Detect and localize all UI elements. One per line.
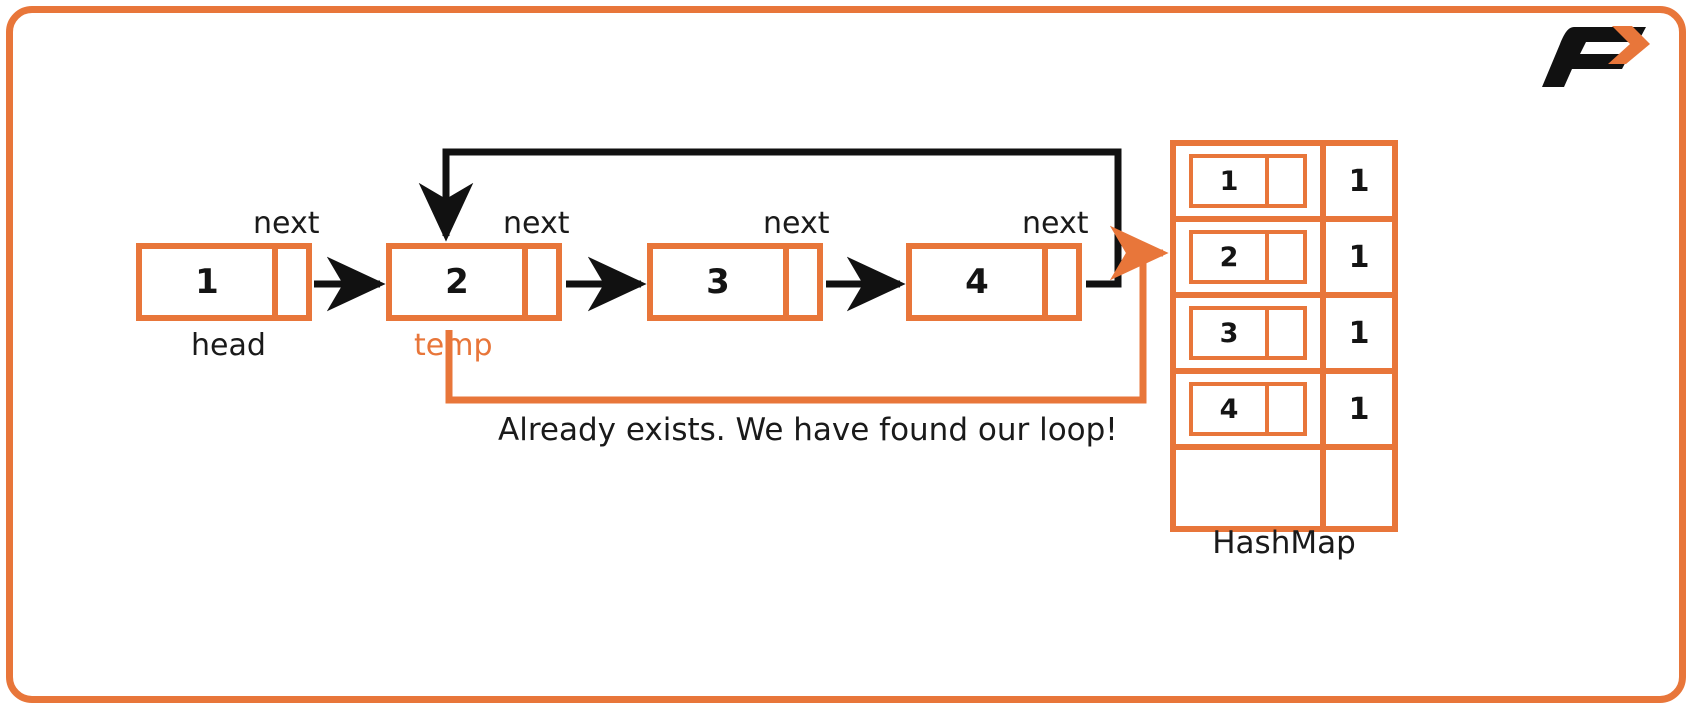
next-label-node-4: next (1022, 206, 1088, 241)
diagram-canvas: next 1 head next 2 temp next 3 next 4 (0, 0, 1692, 709)
list-node-3-value: 3 (653, 249, 789, 315)
hashmap-key-node-next (1269, 386, 1303, 432)
brand-logo (1534, 22, 1654, 92)
hashmap-value-cell: 1 (1326, 222, 1392, 292)
next-label-node-1: next (253, 206, 319, 241)
hashmap-value-cell: 1 (1326, 298, 1392, 368)
hashmap-key-cell: 1 (1176, 146, 1326, 216)
hashmap-key-cell: 2 (1176, 222, 1326, 292)
list-node-2-value: 2 (392, 249, 528, 315)
hashmap-key-cell (1176, 450, 1326, 526)
list-node-2[interactable]: 2 (386, 243, 562, 321)
hashmap-value-cell (1326, 450, 1392, 526)
hashmap-value-cell: 1 (1326, 374, 1392, 444)
hashmap-key-node: 4 (1189, 382, 1307, 436)
hashmap-row[interactable]: 2 1 (1176, 222, 1392, 298)
hashmap-label: HashMap (1170, 525, 1398, 561)
list-node-4-next-cell (1048, 249, 1104, 315)
next-label-node-2: next (503, 206, 569, 241)
hashmap-key-value: 2 (1193, 234, 1269, 280)
list-node-4-value: 4 (912, 249, 1048, 315)
hashmap-key-node: 2 (1189, 230, 1307, 284)
list-node-1[interactable]: 1 (136, 243, 312, 321)
list-node-1-next-cell (278, 249, 334, 315)
hashmap-key-value: 1 (1193, 158, 1269, 204)
list-node-3-next-cell (789, 249, 845, 315)
hashmap-row-empty[interactable] (1176, 450, 1392, 526)
list-node-2-next-cell (528, 249, 584, 315)
list-node-3[interactable]: 3 (647, 243, 823, 321)
hashmap-value-cell: 1 (1326, 146, 1392, 216)
hashmap-key-value: 4 (1193, 386, 1269, 432)
hashmap-row[interactable]: 3 1 (1176, 298, 1392, 374)
hashmap-row[interactable]: 4 1 (1176, 374, 1392, 450)
next-label-node-3: next (763, 206, 829, 241)
hashmap-key-cell: 4 (1176, 374, 1326, 444)
f-logo-icon (1534, 22, 1654, 92)
hashmap-key-node-next (1269, 310, 1303, 356)
list-node-4[interactable]: 4 (906, 243, 1082, 321)
hashmap-key-value: 3 (1193, 310, 1269, 356)
hashmap-key-node-next (1269, 158, 1303, 204)
hashmap-table: 1 1 2 1 3 1 (1170, 140, 1398, 532)
pointer-label-head: head (191, 328, 266, 363)
hashmap-key-node: 3 (1189, 306, 1307, 360)
hashmap-key-cell: 3 (1176, 298, 1326, 368)
pointer-label-temp: temp (414, 328, 493, 363)
hashmap-key-node: 1 (1189, 154, 1307, 208)
caption-text: Already exists. We have found our loop! (498, 412, 1118, 448)
hashmap-key-node-next (1269, 234, 1303, 280)
list-node-1-value: 1 (142, 249, 278, 315)
hashmap-row[interactable]: 1 1 (1176, 146, 1392, 222)
